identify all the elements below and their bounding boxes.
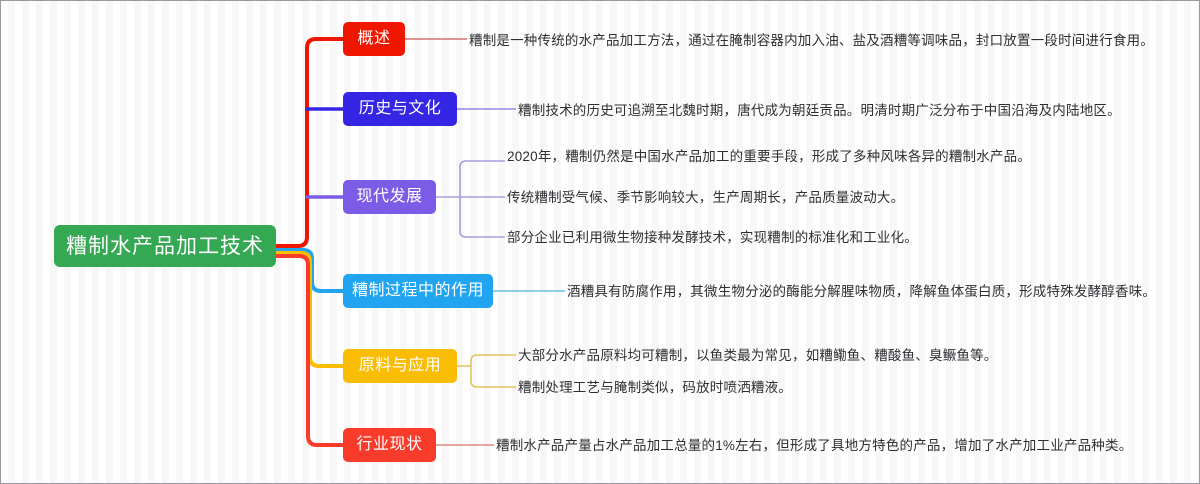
branch-label-industry-status: 行业现状 — [356, 437, 422, 453]
leaf-text-history-1[interactable]: 糟制技术的历史可追溯至北魏时期，唐代成为朝廷贡品。明清时期广泛分布于中国沿海及内… — [518, 104, 1121, 118]
branch-label-role-in-process: 糟制过程中的作用 — [352, 283, 484, 299]
branch-node-history-culture[interactable]: 历史与文化 — [343, 92, 457, 126]
trunk-overview — [276, 39, 343, 246]
leaf-text-role-1[interactable]: 酒糟具有防腐作用，其微生物分泌的酶能分解腥味物质，降解鱼体蛋白质，形成特殊发酵醇… — [567, 285, 1156, 299]
leaf-text-materials-2[interactable]: 糟制处理工艺与腌制类似，码放时喷洒糟液。 — [518, 381, 792, 395]
trunk-industry — [276, 256, 343, 445]
leaf-bracket-materials — [457, 355, 516, 387]
branch-label-modern-development: 现代发展 — [356, 189, 422, 205]
leaf-text-modern-1[interactable]: 2020年，糟制仍然是中国水产品加工的重要手段，形成了多种风味各异的糟制水产品。 — [507, 150, 1031, 164]
leaf-text-industry-1[interactable]: 糟制水产品产量占水产品加工总量的1%左右，但形成了具地方特色的产品，增加了水产加… — [496, 439, 1132, 453]
branch-node-materials-applications[interactable]: 原料与应用 — [343, 349, 457, 383]
branch-label-history-culture: 历史与文化 — [359, 101, 442, 117]
root-node-label: 糟制水产品加工技术 — [66, 236, 264, 257]
leaf-text-materials-1[interactable]: 大部分水产品原料均可糟制，以鱼类最为常见，如糟鳓鱼、糟酸鱼、臭鳜鱼等。 — [518, 349, 998, 363]
leaf-bracket-modern — [436, 161, 505, 237]
branch-node-overview[interactable]: 概述 — [343, 22, 405, 56]
mindmap-canvas: 糟制水产品加工技术 概述 历史与文化 现代发展 糟制过程中的作用 原料与应用 行… — [0, 0, 1200, 484]
branch-node-modern-development[interactable]: 现代发展 — [343, 180, 436, 214]
branch-label-materials-applications: 原料与应用 — [359, 358, 442, 374]
branch-node-role-in-process[interactable]: 糟制过程中的作用 — [343, 274, 493, 308]
leaf-text-modern-3[interactable]: 部分企业已利用微生物接种发酵技术，实现糟制的标准化和工业化。 — [507, 231, 918, 245]
trunk-materials — [276, 253, 343, 366]
root-node[interactable]: 糟制水产品加工技术 — [54, 225, 276, 267]
leaf-text-modern-2[interactable]: 传统糟制受气候、季节影响较大，生产周期长，产品质量波动大。 — [507, 191, 904, 205]
branch-label-overview: 概述 — [357, 31, 390, 47]
leaf-text-overview-1[interactable]: 糟制是一种传统的水产品加工方法，通过在腌制容器内加入油、盐及酒糟等调味品，封口放… — [469, 34, 1154, 48]
trunk-role — [276, 250, 343, 291]
branch-node-industry-status[interactable]: 行业现状 — [343, 428, 436, 462]
